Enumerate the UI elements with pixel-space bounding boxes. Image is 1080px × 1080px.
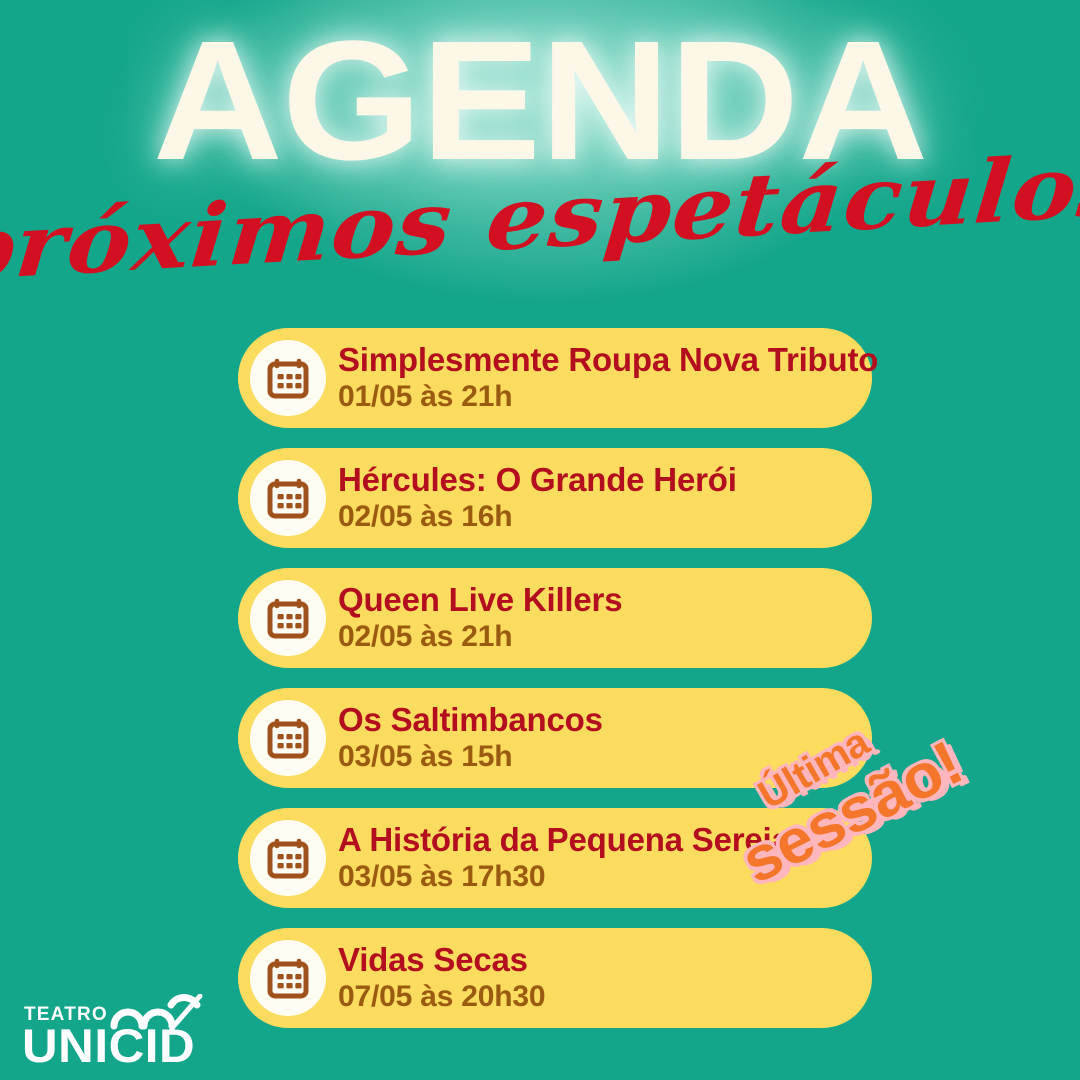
logo-unicid-text: UNICID (22, 1022, 195, 1069)
event-text: A História da Pequena Sereia 03/05 às 17… (338, 821, 872, 895)
calendar-icon (250, 940, 326, 1016)
event-title: Os Saltimbancos (338, 701, 854, 739)
calendar-icon (250, 820, 326, 896)
calendar-icon (250, 700, 326, 776)
event-card[interactable]: Hércules: O Grande Herói 02/05 às 16h (238, 448, 872, 548)
event-text: Vidas Secas 07/05 às 20h30 (338, 941, 872, 1015)
calendar-icon (250, 340, 326, 416)
event-card[interactable]: Vidas Secas 07/05 às 20h30 (238, 928, 872, 1028)
event-text: Queen Live Killers 02/05 às 21h (338, 581, 872, 655)
event-date: 07/05 às 20h30 (338, 979, 854, 1015)
calendar-icon (250, 580, 326, 656)
poster-header: AGENDA próximos espetáculos (0, 0, 1080, 310)
event-title: Vidas Secas (338, 941, 854, 979)
event-title: Hércules: O Grande Herói (338, 461, 854, 499)
event-card[interactable]: Os Saltimbancos 03/05 às 15h (238, 688, 872, 788)
event-card[interactable]: Queen Live Killers 02/05 às 21h (238, 568, 872, 668)
event-date: 01/05 às 21h (338, 379, 854, 415)
event-title: A História da Pequena Sereia (338, 821, 854, 859)
event-text: Os Saltimbancos 03/05 às 15h (338, 701, 872, 775)
event-list: Simplesmente Roupa Nova Tributo 01/05 às… (238, 328, 872, 1048)
agenda-poster: AGENDA próximos espetáculos Simplesmente (0, 0, 1080, 1080)
event-text: Hércules: O Grande Herói 02/05 às 16h (338, 461, 872, 535)
event-title: Queen Live Killers (338, 581, 854, 619)
event-date: 02/05 às 16h (338, 499, 854, 535)
event-text: Simplesmente Roupa Nova Tributo 01/05 às… (338, 341, 872, 415)
event-title: Simplesmente Roupa Nova Tributo (338, 341, 854, 379)
event-date: 03/05 às 17h30 (338, 859, 854, 895)
event-card[interactable]: A História da Pequena Sereia 03/05 às 17… (238, 808, 872, 908)
event-card[interactable]: Simplesmente Roupa Nova Tributo 01/05 às… (238, 328, 872, 428)
event-date: 03/05 às 15h (338, 739, 854, 775)
brand-logo: TEATRO UNICID (22, 996, 212, 1064)
event-date: 02/05 às 21h (338, 619, 854, 655)
calendar-icon (250, 460, 326, 536)
